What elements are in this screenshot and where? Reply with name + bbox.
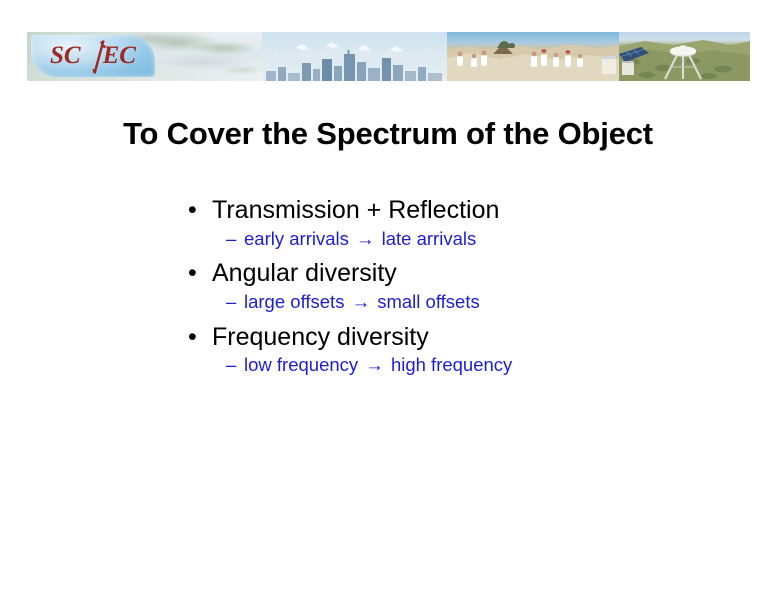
scec-logo-ec: EC (103, 42, 136, 70)
slide-title: To Cover the Spectrum of the Object (0, 116, 776, 152)
bullet-level1: • Frequency diversity (186, 323, 746, 353)
dash-marker-icon: – (226, 228, 236, 251)
bullet-level2: – large offsets → small offsets (186, 291, 746, 314)
bullet-level1-label: Transmission + Reflection (212, 196, 499, 224)
bullet-level1-label: Frequency diversity (212, 323, 429, 351)
scec-banner: SC EC (27, 32, 750, 81)
banner-city-panel (262, 32, 447, 81)
banner-field-panel (447, 32, 619, 81)
bullet-level2: – early arrivals → late arrivals (186, 228, 746, 251)
banner-map-panel: SC EC (27, 32, 262, 81)
slide-body: • Transmission + Reflection – early arri… (186, 196, 746, 386)
right-arrow-icon: → (363, 354, 386, 375)
bullet-level2-from: low frequency (244, 354, 358, 375)
bullet-level2-to: late arrivals (382, 228, 477, 249)
bullet-level2-to: small offsets (377, 291, 479, 312)
right-arrow-icon: → (354, 228, 377, 249)
bullet-level2-from: early arrivals (244, 228, 349, 249)
scec-logo-sc: SC (50, 42, 81, 70)
field-site-graphic (447, 32, 619, 81)
bullet-level1-label: Angular diversity (212, 259, 397, 287)
bullet-level1: • Angular diversity (186, 259, 746, 289)
bullet-level2-to: high frequency (391, 354, 512, 375)
city-skyline-graphic (262, 49, 447, 81)
fault-slash-icon (91, 39, 107, 75)
scec-logo-plate: SC EC (31, 35, 155, 77)
bullet-marker-icon: • (188, 196, 197, 226)
bullet-level1: • Transmission + Reflection (186, 196, 746, 226)
slide-canvas: SC EC (0, 0, 776, 600)
dash-marker-icon: – (226, 291, 236, 314)
gps-station-graphic (619, 32, 750, 81)
right-arrow-icon: → (350, 291, 373, 312)
bullet-level2: – low frequency → high frequency (186, 354, 746, 377)
banner-gps-panel (619, 32, 750, 81)
dash-marker-icon: – (226, 354, 236, 377)
bullet-level2-from: large offsets (244, 291, 344, 312)
bullet-marker-icon: • (188, 259, 197, 289)
bullet-marker-icon: • (188, 323, 197, 353)
